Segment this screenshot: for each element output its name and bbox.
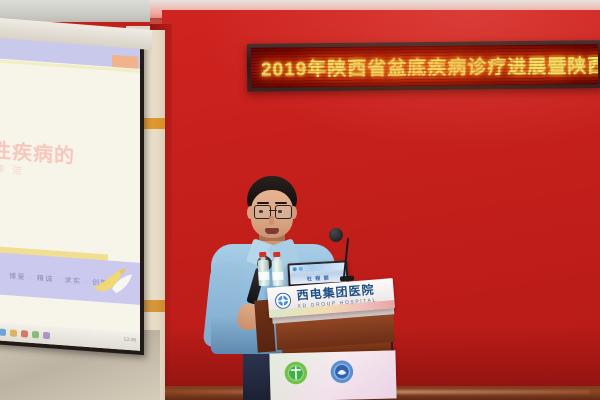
- water-bottle: [271, 252, 284, 287]
- bottle-neck: [260, 257, 265, 261]
- projection-screen: 性疾病的 李 洁 博爱 · 精诚 · 求实 · 创新 13:48: [0, 26, 144, 355]
- eyeglass-lens-right: [275, 205, 292, 219]
- water-bottle: [257, 252, 270, 287]
- taskbar-clock[interactable]: 13:48: [123, 338, 136, 344]
- bottle-label: [258, 272, 269, 281]
- taskbar-icon-1[interactable]: [0, 328, 6, 336]
- card-logo-icon: [293, 267, 297, 271]
- yellow-bird-lotus-graphic: [90, 261, 134, 298]
- taskbar-icon-2[interactable]: [10, 329, 17, 337]
- name-card-header: [290, 263, 346, 273]
- taskbar-icon-5[interactable]: [43, 331, 50, 339]
- taskbar-icon-4[interactable]: [32, 330, 39, 338]
- wall-accent-band-lower: [141, 300, 165, 312]
- card-logo-icon-secondary: [299, 266, 303, 270]
- bottle-neck: [274, 257, 279, 261]
- laptop-screen[interactable]: 杜 程 丽: [290, 263, 347, 285]
- speaker-eyebrow-left: [257, 202, 269, 204]
- slide-subtitle: 李 洁: [0, 160, 24, 177]
- slide-header-accent: [112, 55, 138, 69]
- bottle-cap: [259, 252, 266, 257]
- speaker-mouth: [265, 228, 279, 234]
- bottle-label: [272, 272, 283, 281]
- speaker-nose: [269, 216, 274, 225]
- taskbar-icon-3[interactable]: [21, 330, 28, 338]
- led-banner-surface: 2019年陕西省盆底疾病诊疗进展暨陕西省: [251, 44, 598, 88]
- speaker-eyebrow-right: [275, 202, 287, 204]
- hospital-shield-logo: [274, 292, 291, 309]
- blue-hospital-emblem: [330, 359, 355, 384]
- projection-screen-surface: 性疾病的 李 洁 博爱 · 精诚 · 求实 · 创新 13:48: [0, 30, 140, 351]
- led-banner-text: 2019年陕西省盆底疾病诊疗进展暨陕西省: [251, 50, 598, 81]
- green-health-emblem: [284, 361, 309, 386]
- podium-emblem-group: [284, 359, 355, 385]
- bottle-cap: [273, 252, 280, 257]
- gooseneck-microphone-head: [329, 228, 343, 242]
- speaker-ear-left: [247, 206, 254, 219]
- photo-scene: 性疾病的 李 洁 博爱 · 精诚 · 求实 · 创新 13:48: [0, 0, 600, 400]
- led-banner: 2019年陕西省盆底疾病诊疗进展暨陕西省: [247, 40, 600, 92]
- wall-accent-band-upper: [141, 118, 165, 129]
- podium-lower-panel: [269, 350, 396, 400]
